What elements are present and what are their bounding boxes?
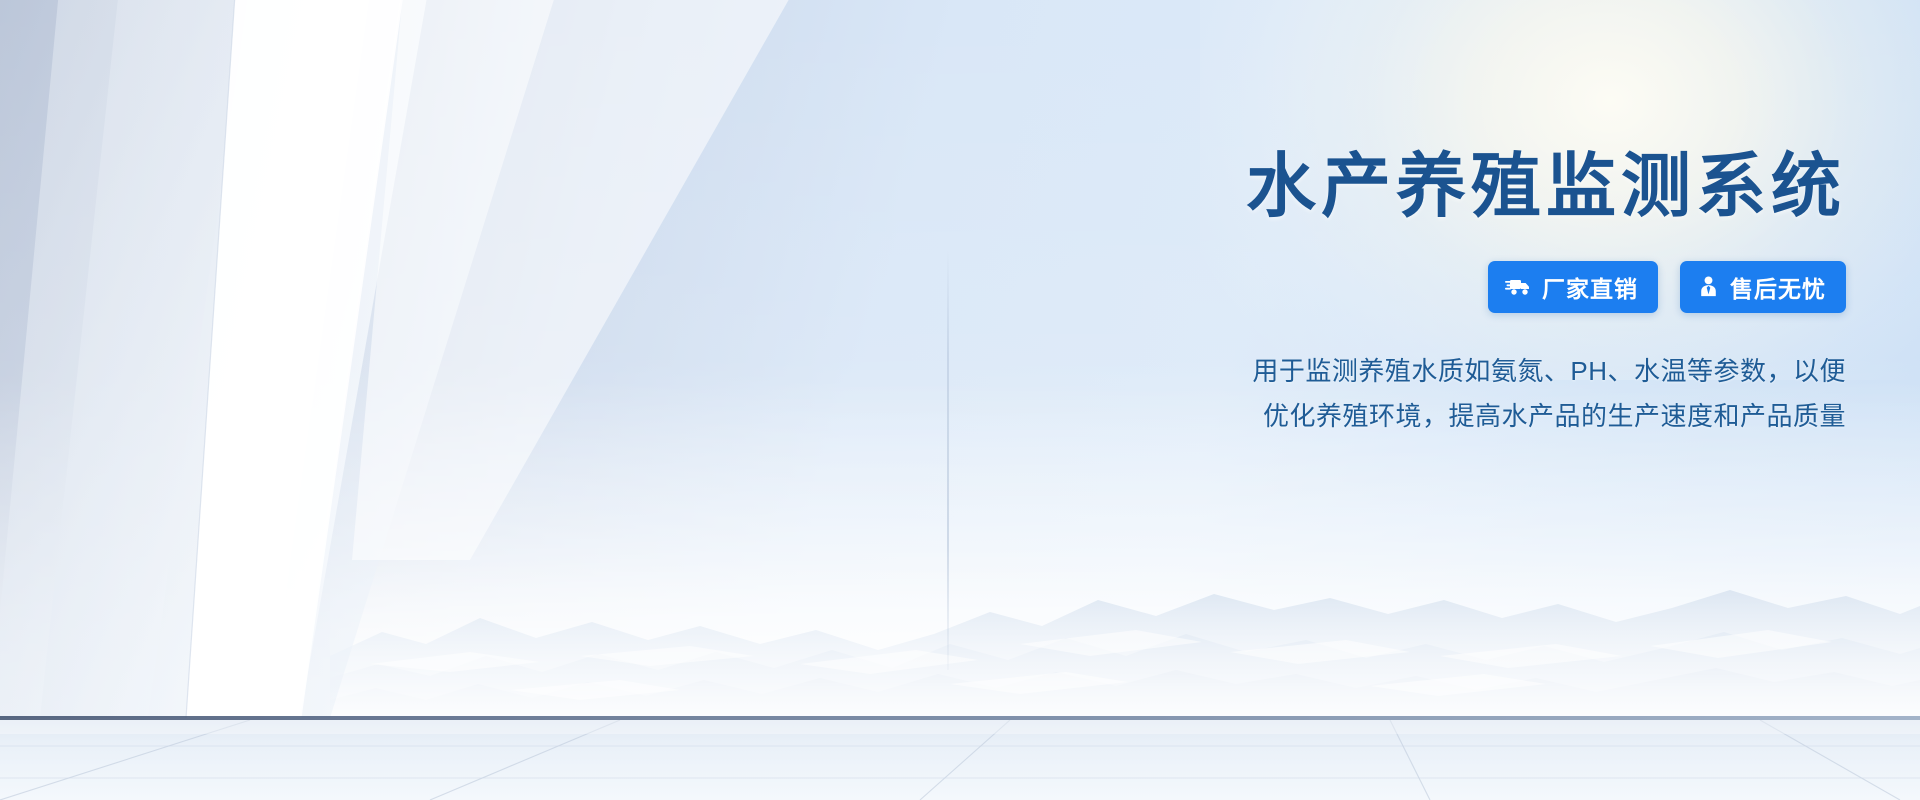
page-description: 用于监测养殖水质如氨氮、PH、水温等参数，以便 优化养殖环境，提高水产品的生产速… bbox=[986, 349, 1846, 438]
hero-content: 水产养殖监测系统 厂家直销 bbox=[986, 150, 1846, 438]
support-agent-icon bbox=[1697, 275, 1720, 298]
architecture-panels bbox=[0, 0, 960, 740]
truck-icon bbox=[1505, 276, 1532, 297]
badge-label: 厂家直销 bbox=[1542, 270, 1638, 304]
description-line-1: 用于监测养殖水质如氨氮、PH、水温等参数，以便 bbox=[986, 349, 1846, 394]
description-line-2: 优化养殖环境，提高水产品的生产速度和产品质量 bbox=[986, 394, 1846, 439]
reflective-floor bbox=[0, 720, 1920, 800]
badge-group: 厂家直销 售后无忧 bbox=[986, 261, 1846, 313]
badge-factory-direct[interactable]: 厂家直销 bbox=[1488, 261, 1658, 313]
page-title: 水产养殖监测系统 bbox=[986, 150, 1846, 223]
badge-after-sales[interactable]: 售后无忧 bbox=[1680, 261, 1846, 313]
hero-banner: 水产养殖监测系统 厂家直销 bbox=[0, 0, 1920, 800]
glass-mullion bbox=[947, 250, 949, 670]
badge-label: 售后无忧 bbox=[1730, 270, 1826, 304]
